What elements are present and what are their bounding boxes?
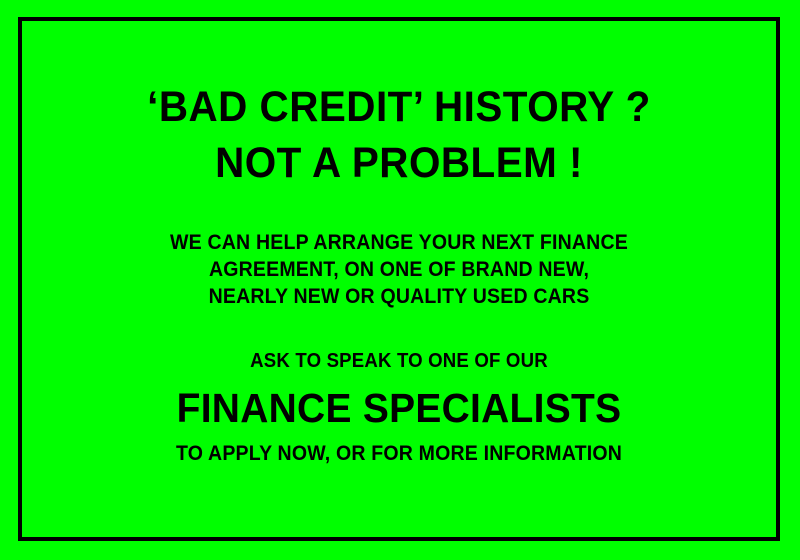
body-line-1: WE CAN HELP ARRANGE YOUR NEXT FINANCE bbox=[48, 230, 749, 257]
headline-line-1: ‘BAD CREDIT’ HISTORY ? bbox=[45, 81, 754, 133]
apply-now-line: TO APPLY NOW, OR FOR MORE INFORMATION bbox=[48, 441, 749, 467]
headline-block: ‘BAD CREDIT’ HISTORY ? NOT A PROBLEM ! bbox=[22, 81, 776, 190]
body-text-block: WE CAN HELP ARRANGE YOUR NEXT FINANCE AG… bbox=[22, 230, 776, 311]
body-line-3: NEARLY NEW OR QUALITY USED CARS bbox=[48, 284, 749, 311]
advertisement-poster: ‘BAD CREDIT’ HISTORY ? NOT A PROBLEM ! W… bbox=[0, 0, 800, 560]
headline-line-2: NOT A PROBLEM ! bbox=[45, 137, 754, 189]
finance-specialists-heading: FINANCE SPECIALISTS bbox=[41, 385, 757, 432]
poster-content: ‘BAD CREDIT’ HISTORY ? NOT A PROBLEM ! W… bbox=[22, 21, 776, 537]
ask-to-speak-line: ASK TO SPEAK TO ONE OF OUR bbox=[48, 349, 749, 374]
call-to-action-block: ASK TO SPEAK TO ONE OF OUR FINANCE SPECI… bbox=[22, 349, 776, 467]
body-line-2: AGREEMENT, ON ONE OF BRAND NEW, bbox=[48, 257, 749, 284]
